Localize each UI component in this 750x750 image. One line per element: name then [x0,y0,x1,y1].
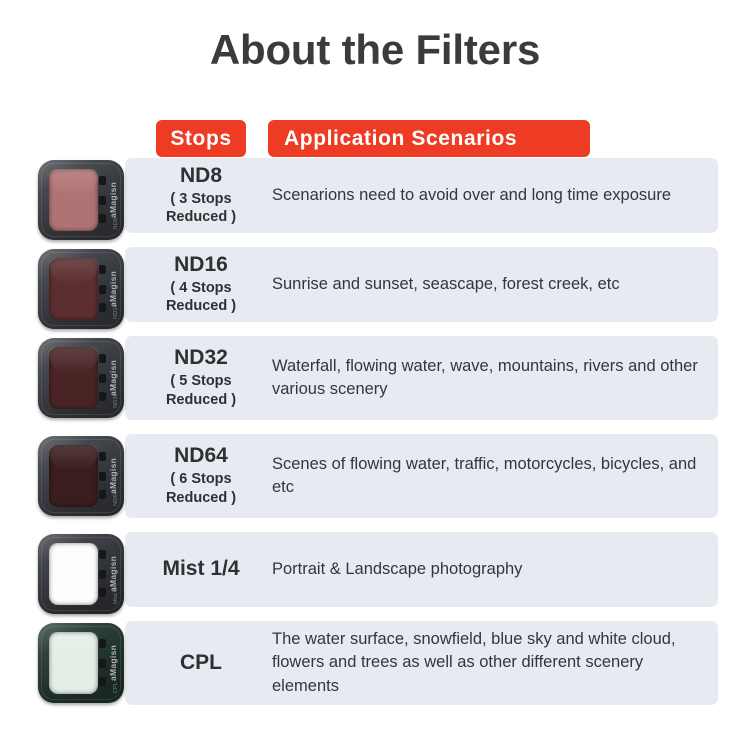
filter-rows: aMagisnND8ND8( 3 StopsReduced )Scenarion… [0,158,750,719]
filter-notch-icon [99,452,106,461]
filter-notch-icon [99,265,106,274]
filter-frame: aMagisnND8 [38,160,124,240]
filter-name: ND64 [174,444,228,469]
scenario-cell: The water surface, snowfield, blue sky a… [272,621,714,705]
filter-stops-sub-line1: ( 3 Stops [166,190,236,209]
filter-name: Mist 1/4 [162,557,239,582]
filter-stops-sub-line2: Reduced ) [166,297,236,316]
filter-glass [49,445,98,507]
filter-glass [49,169,98,231]
filter-model-label: CPL [113,682,119,693]
filter-product-image: aMagisnMist 1/4 [38,534,124,614]
filter-glass [49,632,98,694]
filter-notch-icon [99,285,106,294]
stops-cell: ND16( 4 StopsReduced ) [140,247,262,322]
scenario-text: Waterfall, flowing water, wave, mountain… [272,355,714,402]
filter-model-label: ND64 [113,491,119,506]
glass-sheen-icon [49,543,98,569]
filter-stops-sub: ( 3 StopsReduced ) [166,190,236,228]
filter-notch-icon [99,303,106,312]
filter-model-label: ND32 [113,393,119,408]
filter-name: ND8 [180,164,222,189]
infographic-page: About the Filters Stops Application Scen… [0,0,750,750]
filter-product-image: aMagisnND8 [38,160,124,240]
scenario-cell: Portrait & Landscape photography [272,532,714,607]
filter-name: ND32 [174,346,228,371]
glass-sheen-icon [49,258,98,284]
scenario-text: Portrait & Landscape photography [272,558,522,581]
filter-notch-icon [99,588,106,597]
filter-glass [49,347,98,409]
filter-frame: aMagisnND64 [38,436,124,516]
filter-notch-icon [99,176,106,185]
page-title: About the Filters [0,26,750,74]
filter-stops-sub: ( 4 StopsReduced ) [166,279,236,317]
stops-cell: ND8( 3 StopsReduced ) [140,158,262,233]
scenario-text: The water surface, snowfield, blue sky a… [272,628,714,698]
filter-notch-icon [99,472,106,481]
stops-cell: ND32( 5 StopsReduced ) [140,336,262,420]
filter-notch-icon [99,392,106,401]
filter-product-image: aMagisnND16 [38,249,124,329]
filter-frame: aMagisnND32 [38,338,124,418]
filter-stops-sub-line1: ( 6 Stops [166,470,236,489]
filter-stops-sub-line2: Reduced ) [166,208,236,227]
filter-product-image: aMagisnND64 [38,436,124,516]
scenario-cell: Sunrise and sunset, seascape, forest cre… [272,247,714,322]
filter-product-image: aMagisnCPL [38,623,124,703]
scenario-text: Sunrise and sunset, seascape, forest cre… [272,273,620,296]
table-row: aMagisnCPLCPLThe water surface, snowfiel… [0,621,750,705]
table-row: aMagisnMist 1/4Mist 1/4Portrait & Landsc… [0,532,750,607]
scenario-cell: Waterfall, flowing water, wave, mountain… [272,336,714,420]
filter-stops-sub: ( 5 StopsReduced ) [166,372,236,410]
filter-glass [49,258,98,320]
filter-model-label: Mist 1/4 [113,583,119,604]
table-header: Stops Application Scenarios [0,120,750,158]
scenario-cell: Scenes of flowing water, traffic, motorc… [272,434,714,518]
glass-sheen-icon [49,445,98,471]
filter-model-label: ND16 [113,304,119,319]
filter-notch-icon [99,570,106,579]
glass-sheen-icon [49,169,98,195]
filter-frame: aMagisnND16 [38,249,124,329]
filter-glass [49,543,98,605]
filter-model-label: ND8 [113,218,119,230]
table-row: aMagisnND16ND16( 4 StopsReduced )Sunrise… [0,247,750,322]
filter-stops-sub-line1: ( 4 Stops [166,279,236,298]
filter-product-image: aMagisnND32 [38,338,124,418]
glass-sheen-icon [49,632,98,658]
filter-stops-sub: ( 6 StopsReduced ) [166,470,236,508]
filter-notch-icon [99,639,106,648]
filter-notch-icon [99,354,106,363]
filter-stops-sub-line2: Reduced ) [166,489,236,508]
scenario-cell: Scenarions need to avoid over and long t… [272,158,714,233]
scenario-text: Scenes of flowing water, traffic, motorc… [272,453,714,500]
filter-notch-icon [99,550,106,559]
header-application-scenarios: Application Scenarios [268,120,590,157]
stops-cell: CPL [140,621,262,705]
table-row: aMagisnND32ND32( 5 StopsReduced )Waterfa… [0,336,750,420]
filter-stops-sub-line2: Reduced ) [166,391,236,410]
stops-cell: ND64( 6 StopsReduced ) [140,434,262,518]
glass-sheen-icon [49,347,98,373]
scenario-text: Scenarions need to avoid over and long t… [272,184,671,207]
filter-name: CPL [180,651,222,676]
filter-stops-sub-line1: ( 5 Stops [166,372,236,391]
filter-frame: aMagisnMist 1/4 [38,534,124,614]
header-stops: Stops [156,120,246,157]
filter-frame: aMagisnCPL [38,623,124,703]
filter-notch-icon [99,490,106,499]
table-row: aMagisnND8ND8( 3 StopsReduced )Scenarion… [0,158,750,233]
filter-notch-icon [99,677,106,686]
filter-notch-icon [99,196,106,205]
filter-notch-icon [99,374,106,383]
filter-name: ND16 [174,253,228,278]
filter-notch-icon [99,659,106,668]
table-row: aMagisnND64ND64( 6 StopsReduced )Scenes … [0,434,750,518]
filter-notch-icon [99,214,106,223]
stops-cell: Mist 1/4 [140,532,262,607]
